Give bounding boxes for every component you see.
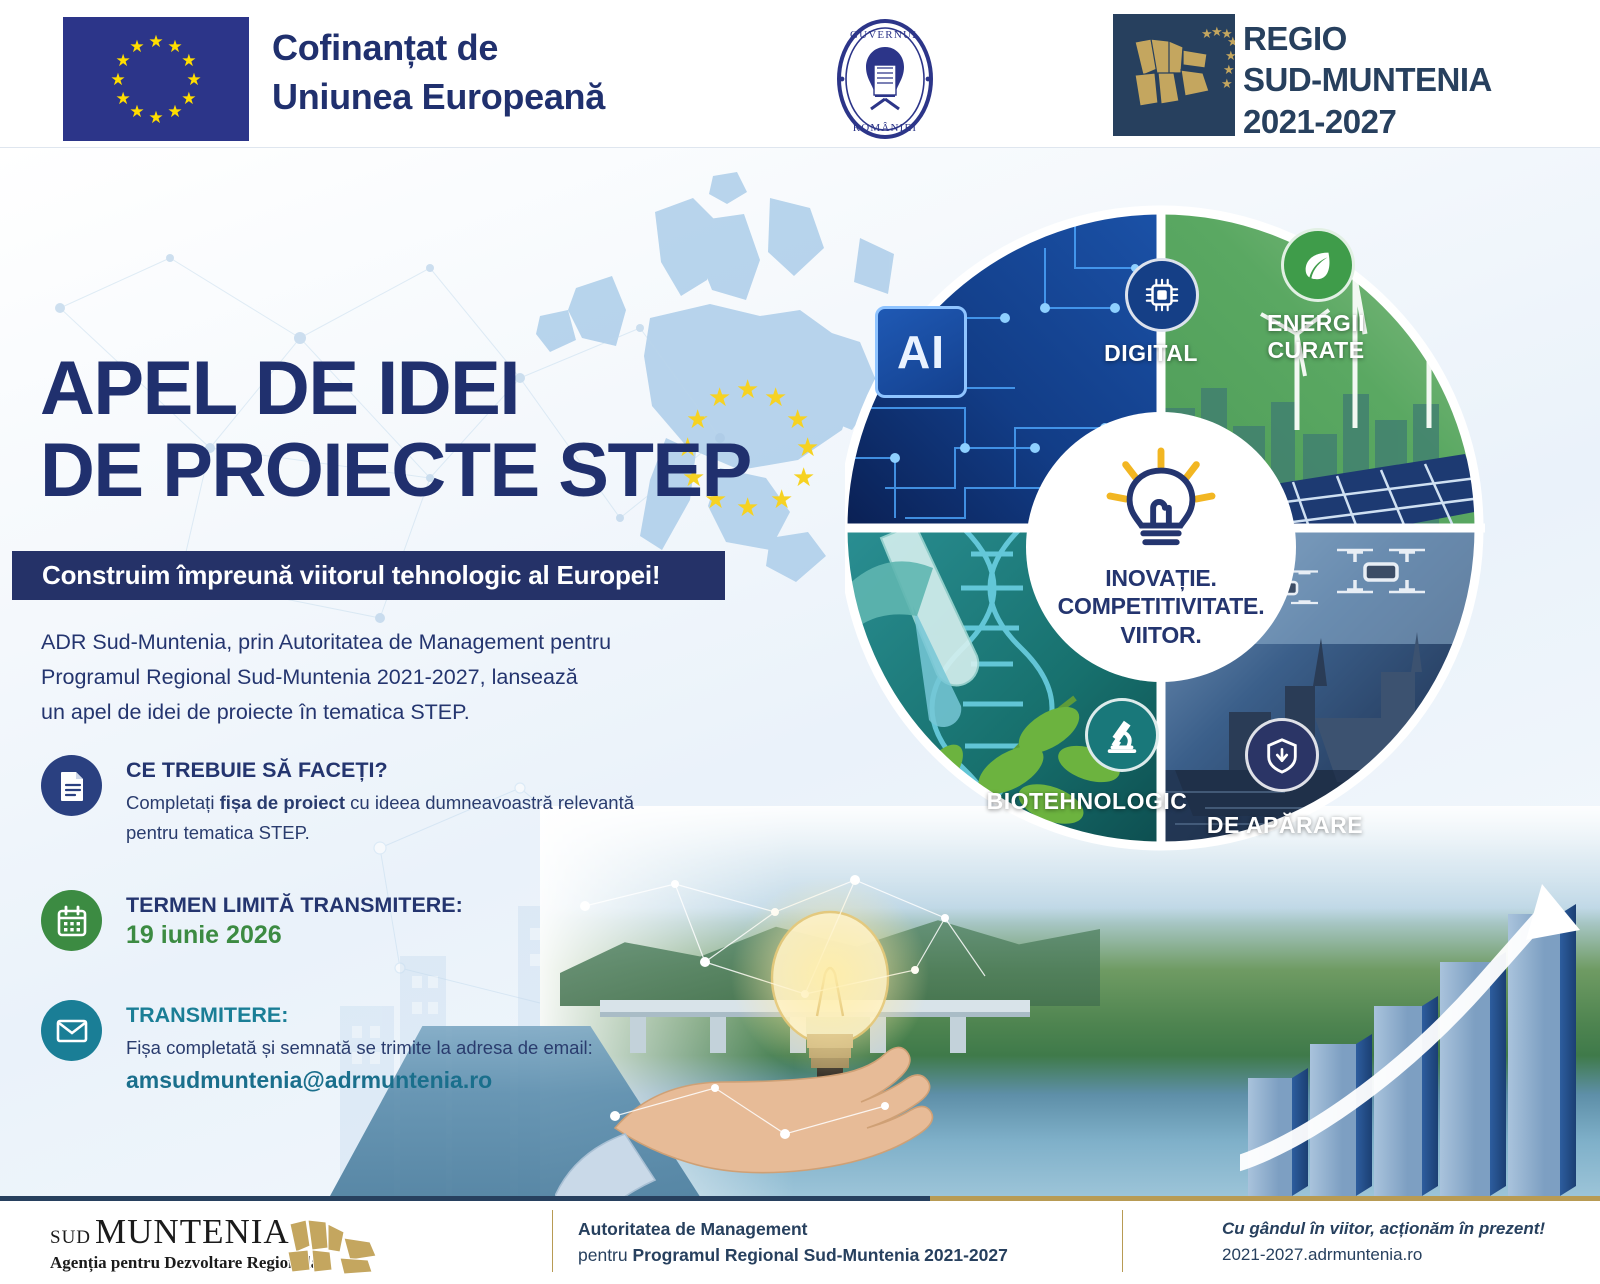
ai-badge: AI — [875, 306, 967, 398]
leaf-icon — [1281, 228, 1355, 302]
authority-line-2-bold: Programul Regional Sud-Muntenia 2021-202… — [632, 1245, 1007, 1265]
chip-icon — [1125, 258, 1199, 332]
poster-body: ★ ★ ★ ★ ★ ★ ★ ★ ★ ★ ★ ★ — [0, 148, 1600, 1196]
footer-slogan: Cu gândul în viitor, acționăm în prezent… — [1222, 1216, 1545, 1242]
info-body-bold: fișa de proiect — [220, 792, 345, 813]
hub-line-3: VIITOR. — [1058, 621, 1265, 649]
bulb-glow — [730, 876, 930, 1076]
eu-flag-star: ★ — [186, 71, 203, 88]
quadrant-label-defence: DE APĂRARE — [1175, 812, 1395, 839]
intro-line-2: Programul Regional Sud-Muntenia 2021-202… — [41, 660, 681, 695]
footer-logo-sud: SUD — [50, 1227, 91, 1248]
tagline-text: Construim împreună viitorul tehnologic a… — [12, 560, 660, 591]
svg-text:★: ★ — [1221, 76, 1233, 91]
eu-flag-star: ★ — [148, 109, 165, 126]
growth-bar-chart-graphic — [1240, 866, 1600, 1196]
eu-line-1: Cofinanțat de — [272, 24, 605, 73]
eu-cofinancing-label: Cofinanțat de Uniunea Europeană — [272, 24, 605, 121]
info-heading: CE TREBUIE SĂ FACEȚI? — [126, 757, 634, 784]
footer-bar: SUD MUNTENIA Agenția pentru Dezvoltare R… — [0, 1196, 1600, 1284]
wheel-center-hub: INOVAȚIE. COMPETITIVITATE. VIITOR. — [1030, 416, 1292, 678]
header-bar: ★★★★★★★★★★★★ Cofinanțat de Uniunea Europ… — [0, 0, 1600, 148]
thematic-wheel-diagram: AI — [845, 158, 1485, 898]
page-title: APEL DE IDEI DE PROIECTE STEP — [40, 348, 760, 512]
shield-icon — [1245, 718, 1319, 792]
footer-separator-right — [1122, 1210, 1123, 1272]
regio-map-logo-icon: ★ ★ ★ ★ ★ ★ ★ — [1113, 14, 1235, 136]
quadrant-label-biotech: BIOTEHNOLOGIC — [967, 788, 1207, 815]
info-body-post: cu ideea dumneavoastră relevantă — [345, 792, 634, 813]
info-block-submission: TRANSMITERE: Fișa completată și semnată … — [41, 1000, 593, 1094]
intro-line-3: un apel de idei de proiecte în tematica … — [41, 695, 681, 730]
hub-line-2: COMPETITIVITATE. — [1058, 592, 1265, 620]
hub-line-1: INOVAȚIE. — [1058, 564, 1265, 592]
footer-rule-navy — [0, 1196, 930, 1201]
lightbulb-icon — [1102, 445, 1220, 558]
hand-holding-lightbulb-photo — [555, 866, 1015, 1196]
footer-map-icon — [282, 1214, 392, 1276]
authority-line-2-pre: pentru — [578, 1245, 632, 1265]
footer-divider-rule — [0, 1196, 1600, 1201]
calendar-icon — [41, 890, 102, 951]
footer-url[interactable]: 2021-2027.adrmuntenia.ro — [1222, 1242, 1545, 1268]
footer-slogan-block: Cu gândul în viitor, acționăm în prezent… — [1222, 1216, 1545, 1269]
info-body-pre: Completați — [126, 792, 220, 813]
seal-bottom-text: ROMÂNIEI — [853, 122, 918, 134]
eu-flag-star: ★ — [115, 90, 132, 107]
quadrant-label-line-2: CURATE — [1241, 337, 1391, 364]
envelope-icon — [41, 1000, 102, 1061]
regio-line-1: REGIO — [1243, 18, 1492, 59]
info-block-what-to-do: CE TREBUIE SĂ FACEȚI? Completați fișa de… — [41, 755, 634, 847]
eu-flag-star: ★ — [180, 52, 197, 69]
eu-flag-star: ★ — [148, 33, 165, 50]
info-body-line-1: Completați fișa de proiect cu ideea dumn… — [126, 789, 634, 818]
regio-line-2: SUD-MUNTENIA — [1243, 59, 1492, 100]
regio-line-3: 2021-2027 — [1243, 101, 1492, 142]
intro-line-1: ADR Sud-Muntenia, prin Autoritatea de Ma… — [41, 625, 681, 660]
authority-line-2: pentru Programul Regional Sud-Muntenia 2… — [578, 1242, 1008, 1268]
tagline-banner: Construim împreună viitorul tehnologic a… — [12, 551, 725, 600]
quadrant-label-digital: DIGITAL — [1081, 340, 1221, 367]
quadrant-label-line-1: ENERGII — [1241, 310, 1391, 337]
eu-flag-icon: ★★★★★★★★★★★★ — [63, 17, 249, 141]
managing-authority-text: Autoritatea de Management pentru Program… — [578, 1216, 1008, 1269]
document-icon — [41, 755, 102, 816]
deadline-value: 19 iunie 2026 — [126, 921, 463, 950]
footer-separator-left — [552, 1210, 553, 1272]
authority-line-1: Autoritatea de Management — [578, 1216, 1008, 1242]
eu-flag-star: ★ — [167, 103, 184, 120]
svg-text:★: ★ — [1223, 62, 1235, 77]
romanian-government-seal-icon: GUVERNUL ROMÂNIEI — [824, 17, 946, 141]
eu-flag-star: ★ — [129, 38, 146, 55]
footer-logo-muntenia: MUNTENIA — [95, 1212, 290, 1251]
footer-rule-gold — [930, 1196, 1600, 1201]
title-line-2: DE PROIECTE STEP — [40, 430, 760, 512]
submission-instruction: Fișa completată și semnată se trimite la… — [126, 1034, 593, 1063]
title-line-1: APEL DE IDEI — [40, 348, 760, 430]
info-block-deadline: TERMEN LIMITĂ TRANSMITERE: 19 iunie 2026 — [41, 890, 463, 951]
hub-slogan: INOVAȚIE. COMPETITIVITATE. VIITOR. — [1058, 564, 1265, 648]
eu-line-2: Uniunea Europeană — [272, 73, 605, 122]
info-heading: TERMEN LIMITĂ TRANSMITERE: — [126, 892, 463, 919]
regio-title: REGIO SUD-MUNTENIA 2021-2027 — [1243, 18, 1492, 142]
info-heading: TRANSMITERE: — [126, 1002, 593, 1029]
submission-email[interactable]: amsudmuntenia@adrmuntenia.ro — [126, 1067, 593, 1094]
eu-flag-star: ★ — [110, 71, 127, 88]
quadrant-label-clean-energy: ENERGII CURATE — [1241, 310, 1391, 364]
info-body-line-2: pentru tematica STEP. — [126, 819, 634, 848]
seal-top-text: GUVERNUL — [850, 29, 920, 41]
intro-paragraph: ADR Sud-Muntenia, prin Autoritatea de Ma… — [41, 625, 681, 729]
svg-text:★: ★ — [1225, 48, 1235, 63]
microscope-icon — [1085, 698, 1159, 772]
svg-text:★: ★ — [1227, 34, 1235, 49]
